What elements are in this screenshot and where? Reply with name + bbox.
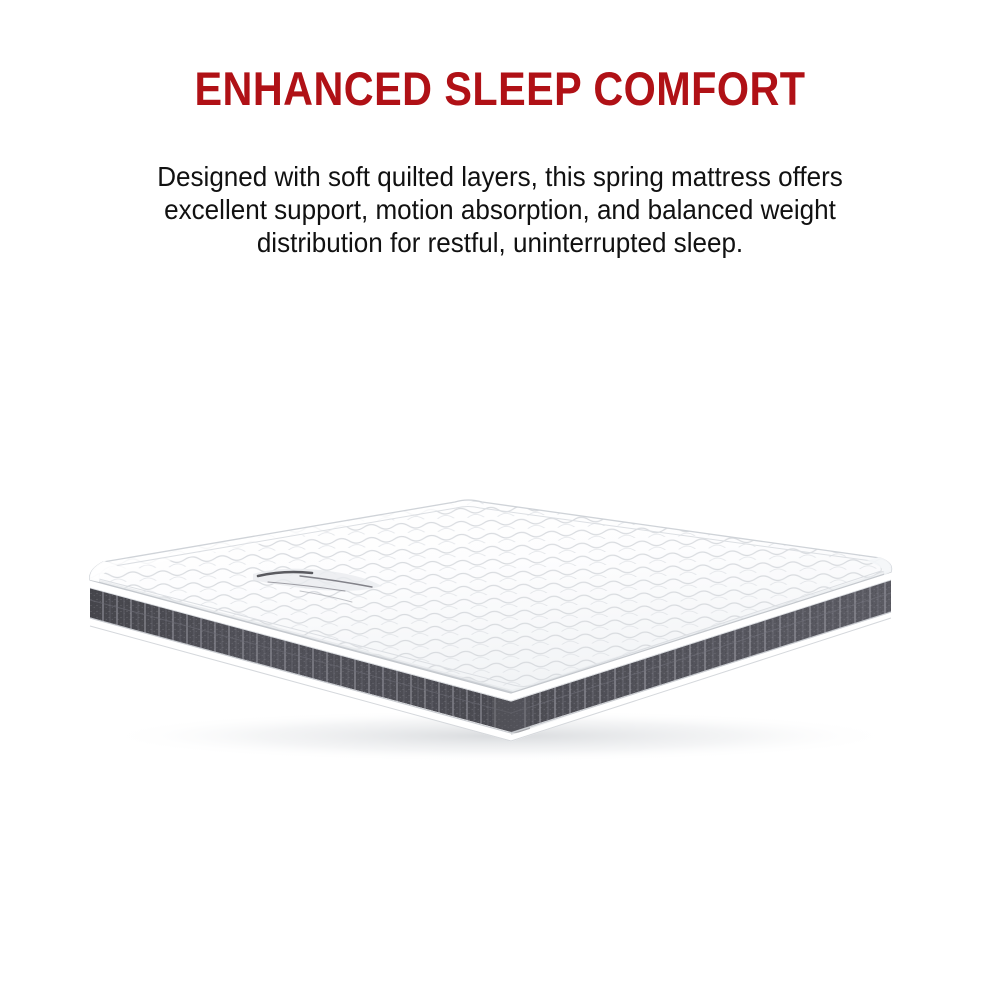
product-feature-banner: ENHANCED SLEEP COMFORT Designed with sof… (0, 0, 1000, 1000)
page-title: ENHANCED SLEEP COMFORT (60, 62, 940, 116)
body-copy-line: distribution for restful, uninterrupted … (82, 226, 919, 259)
mattress-illustration (0, 430, 1000, 850)
product-image (0, 430, 1000, 850)
body-copy: Designed with soft quilted layers, this … (82, 160, 919, 259)
mattress-top-panel (80, 490, 910, 706)
body-copy-line: Designed with soft quilted layers, this … (82, 160, 919, 193)
body-copy-line: excellent support, motion absorption, an… (82, 193, 919, 226)
